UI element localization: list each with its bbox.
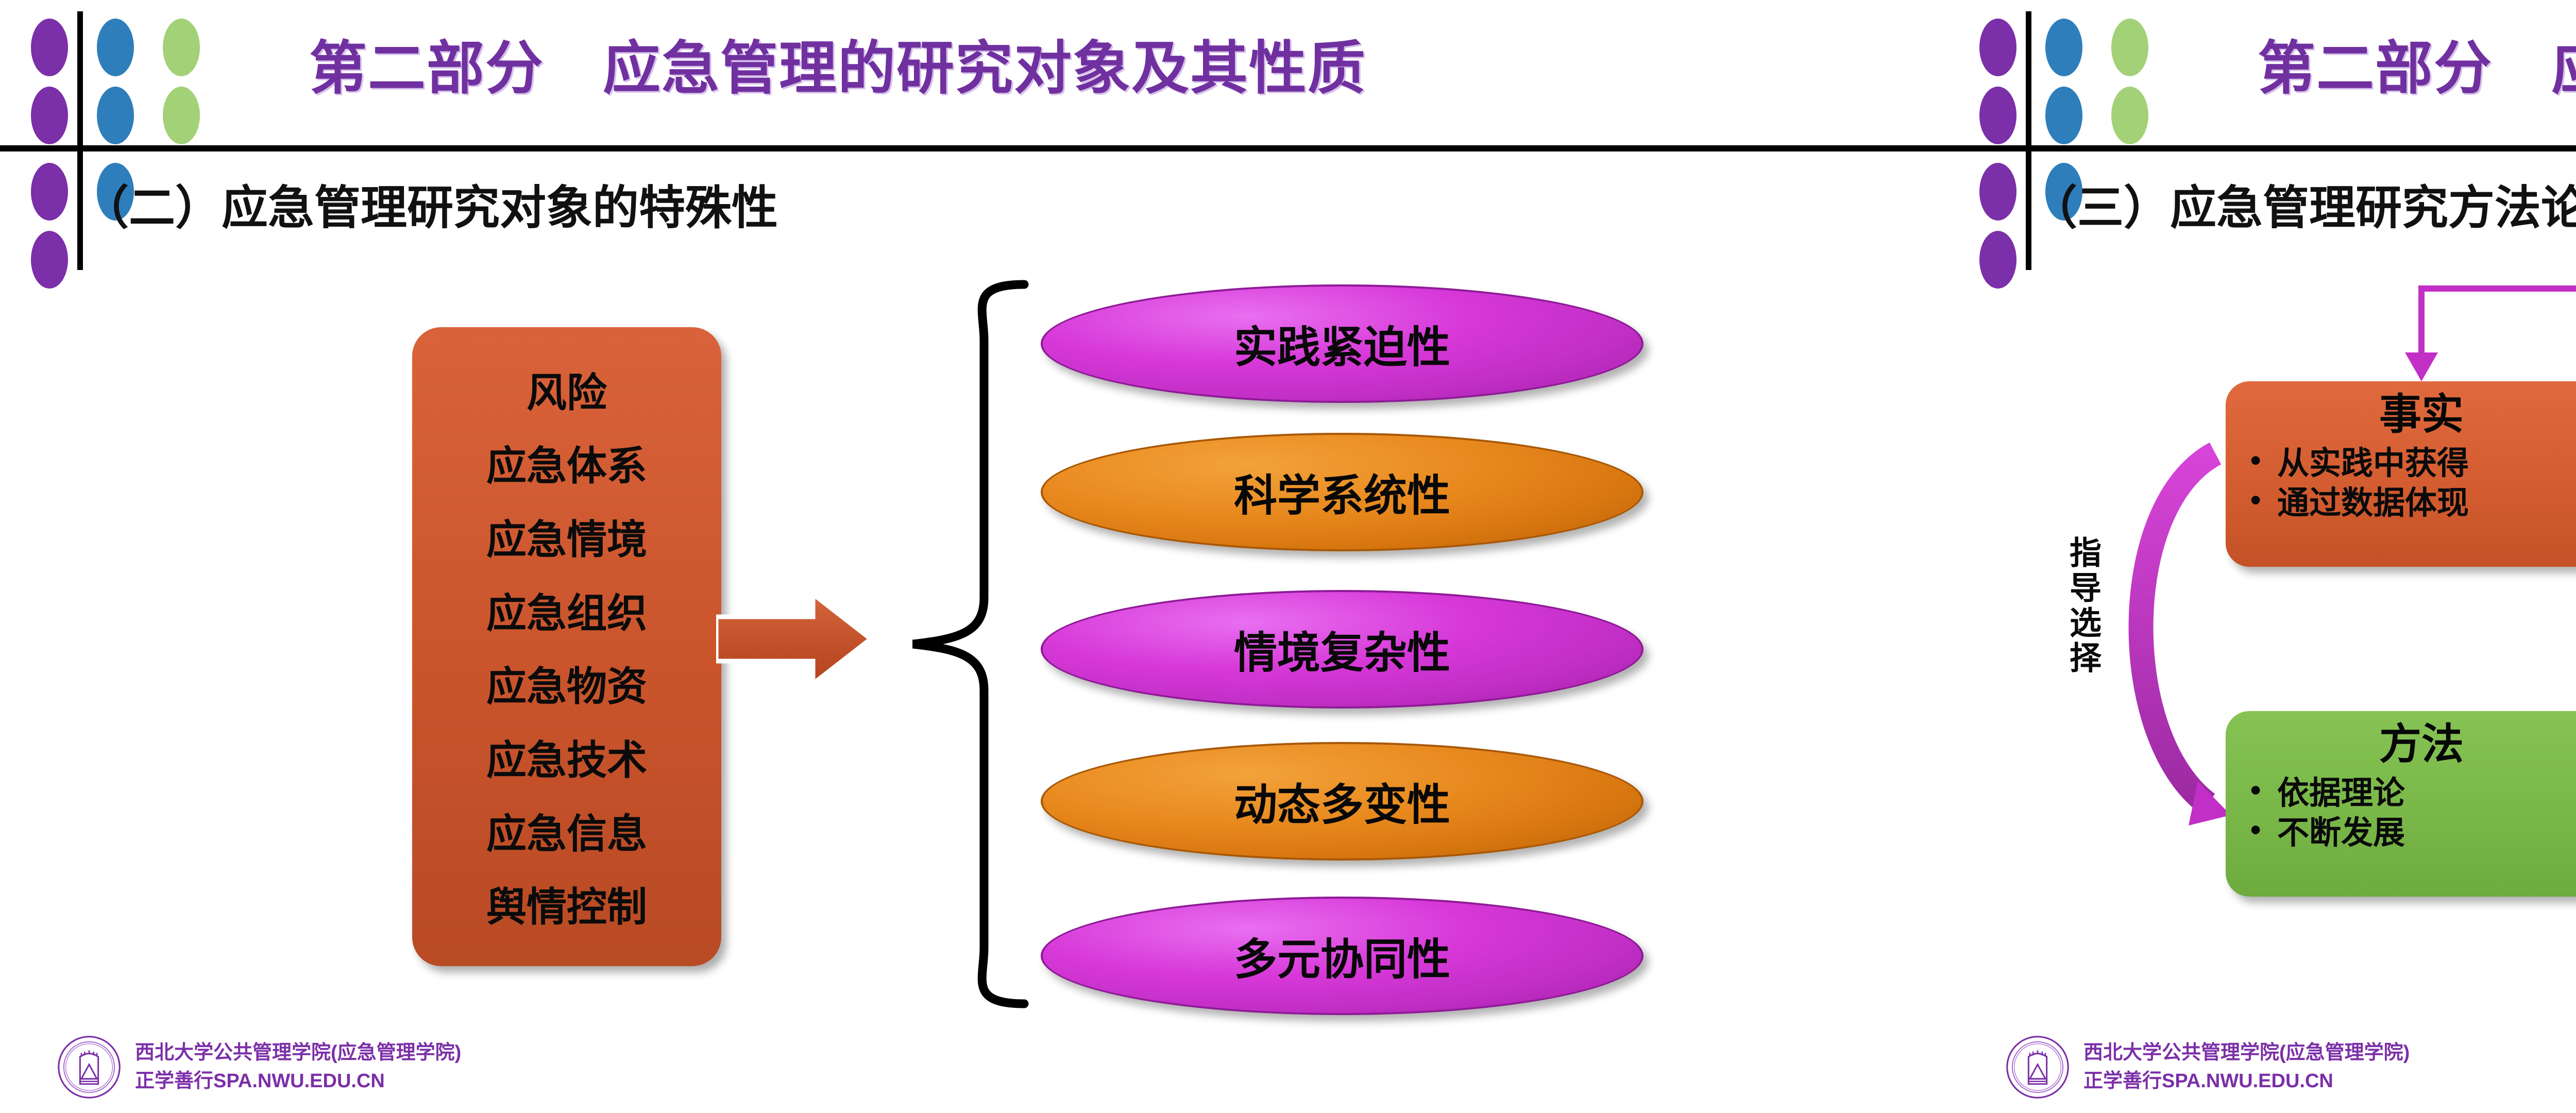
dot-green-2: [163, 87, 200, 144]
fact-bullet: 从实践中获得: [2277, 444, 2576, 484]
fact-bullet-list: 从实践中获得 通过数据体现: [2239, 444, 2576, 524]
dot-purple-2: [1979, 87, 2016, 144]
footer-institution: 西北大学公共管理学院(应急管理学院): [2083, 1039, 2410, 1067]
dot-blue-2: [2045, 87, 2082, 144]
dot-green-2: [2111, 87, 2148, 144]
footer-institution: 西北大学公共管理学院(应急管理学院): [135, 1039, 461, 1067]
dot-blue-1: [2045, 19, 2082, 76]
header-horizontal-rule: [0, 145, 1948, 151]
research-object-item: 应急体系: [486, 434, 647, 492]
footer-right: 西北大学公共管理学院(应急管理学院) 正学善行SPA.NWU.EDU.CN: [2005, 1035, 2410, 1100]
university-seal-icon: [57, 1035, 122, 1100]
dot-blue-2: [97, 87, 134, 144]
method-bullet: 依据理论: [2277, 774, 2576, 814]
research-object-item: 应急情境: [486, 508, 647, 565]
method-box: 方法 依据理论 不断发展: [2226, 711, 2576, 897]
slide-header-right: 第二部分 应急管理研究方法论: [1948, 0, 2576, 155]
header-horizontal-rule: [1948, 145, 2576, 151]
block-arrow-right-icon: [716, 590, 871, 688]
dot-blue-1: [97, 19, 134, 76]
slide-deck: 第二部分 应急管理的研究对象及其性质 （二）应急管理研究对象的特殊性 风险 应急…: [0, 0, 2576, 1113]
research-object-item: 应急信息: [486, 802, 647, 859]
dot-purple-4: [1979, 231, 2016, 289]
footer-motto-url: 正学善行SPA.NWU.EDU.CN: [135, 1067, 461, 1095]
attribute-ellipse: 实践紧迫性: [1041, 284, 1643, 403]
research-object-item: 风险: [527, 361, 607, 418]
header-dot-grid: [31, 19, 201, 147]
method-bullet-list: 依据理论 不断发展: [2239, 774, 2576, 853]
attribute-label: 多元协同性: [1234, 925, 1450, 987]
page-title: 第二部分 应急管理的研究对象及其性质: [309, 22, 1366, 105]
dot-purple-1: [31, 19, 68, 76]
attribute-label: 情境复杂性: [1234, 618, 1450, 681]
university-seal-icon: [2005, 1035, 2070, 1100]
dot-purple-1: [1979, 19, 2016, 76]
research-object-item: 应急物资: [486, 654, 647, 712]
attribute-label: 动态多变性: [1234, 770, 1450, 833]
footer-motto-url: 正学善行SPA.NWU.EDU.CN: [2083, 1067, 2410, 1095]
slide-left: 第二部分 应急管理的研究对象及其性质 （二）应急管理研究对象的特殊性 风险 应急…: [0, 0, 1948, 1113]
slide-header-left: 第二部分 应急管理的研究对象及其性质: [0, 0, 1948, 155]
attribute-label: 科学系统性: [1234, 461, 1450, 524]
research-objects-box: 风险 应急体系 应急情境 应急组织 应急物资 应急技术 应急信息 舆情控制: [412, 327, 721, 966]
dot-purple-3: [31, 163, 68, 221]
method-bullet: 不断发展: [2277, 814, 2576, 853]
footer-text-block: 西北大学公共管理学院(应急管理学院) 正学善行SPA.NWU.EDU.CN: [135, 1039, 461, 1095]
dot-green-1: [2111, 19, 2148, 76]
research-object-item: 舆情控制: [486, 875, 647, 933]
footer-text-block: 西北大学公共管理学院(应急管理学院) 正学善行SPA.NWU.EDU.CN: [2083, 1039, 2410, 1095]
dot-purple-3: [1979, 163, 2016, 221]
attribute-label: 实践紧迫性: [1234, 313, 1450, 375]
dot-purple-4: [31, 231, 68, 289]
fact-box: 事实 从实践中获得 通过数据体现: [2226, 381, 2576, 567]
attribute-ellipse: 科学系统性: [1041, 433, 1643, 551]
page-title: 第二部分 应急管理研究方法论: [2258, 22, 2576, 105]
header-dot-grid: [1979, 19, 2149, 147]
research-object-item: 应急技术: [486, 728, 647, 786]
header-vertical-rule: [2026, 11, 2031, 145]
header-vertical-rule: [77, 11, 83, 145]
footer-left: 西北大学公共管理学院(应急管理学院) 正学善行SPA.NWU.EDU.CN: [57, 1035, 461, 1100]
fact-bullet: 通过数据体现: [2277, 484, 2576, 524]
left-curly-brace-icon: [907, 278, 1030, 1010]
fact-title: 事实: [2239, 393, 2576, 437]
section-subtitle: （三）应急管理研究方法论: [2031, 170, 2576, 237]
dot-purple-2: [31, 87, 68, 144]
method-title: 方法: [2239, 722, 2576, 767]
dot-green-1: [163, 19, 200, 76]
guide-select-label: 指导选择: [2066, 536, 2098, 676]
section-subtitle: （二）应急管理研究对象的特殊性: [82, 170, 778, 237]
attribute-ellipse: 情境复杂性: [1041, 590, 1643, 709]
research-object-item: 应急组织: [486, 581, 647, 639]
attribute-ellipse: 多元协同性: [1041, 897, 1643, 1015]
attribute-ellipse: 动态多变性: [1041, 742, 1643, 861]
